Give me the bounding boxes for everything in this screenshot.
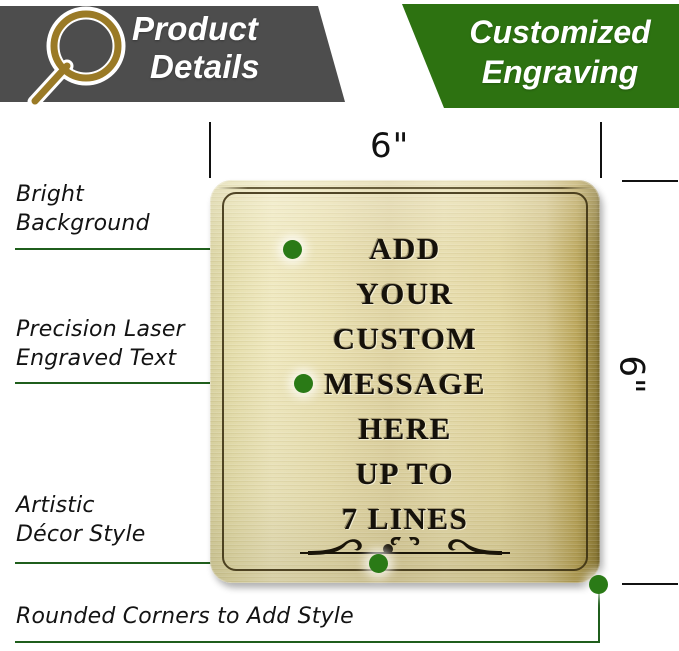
engraved-line: UP TO [210,451,600,496]
callout-label-artistic-decor-style: Artistic Décor Style [16,491,146,549]
engraved-text-block: ADD YOUR CUSTOM MESSAGE HERE UP TO 7 LIN… [210,226,600,541]
customized-engraving-banner-text: Customized Engraving [444,12,676,92]
decorative-flourish-icon [300,531,510,559]
dimension-tick-right-top [622,180,678,182]
plaque-surface: ADD YOUR CUSTOM MESSAGE HERE UP TO 7 LIN… [210,180,600,583]
height-dimension-label: 6" [612,355,652,394]
callout-leader-rounded-corners-vertical [598,592,600,643]
product-details-line1: Product [132,10,258,47]
engraved-line: YOUR [210,271,600,316]
customized-engraving-line2: Engraving [482,54,638,90]
dimension-tick-top-left [209,122,211,178]
engraved-line: MESSAGE [210,361,600,406]
infographic-canvas: Product Details Customized Engraving 6" … [0,0,679,651]
dimension-tick-right-bottom [622,583,678,585]
callout-label-rounded-corners: Rounded Corners to Add Style [16,602,354,631]
customized-engraving-line1: Customized [469,14,650,50]
dimension-tick-top-right [600,122,602,178]
engraved-line: 7 LINES [210,496,600,541]
engraved-line: HERE [210,406,600,451]
magnifying-glass-icon [14,0,134,118]
callout-leader-rounded-corners-horizontal [15,641,600,643]
engraved-line: ADD [210,226,600,271]
plaque-top-edge-line [218,187,592,189]
callout-dot-rounded-corners [589,575,608,594]
brushed-metal-texture [210,180,600,583]
callout-dot-artistic-decor-style [369,554,388,573]
callout-label-precision-laser-engraved-text: Precision Laser Engraved Text [16,315,185,373]
callout-dot-precision-laser-engraved-text [294,374,313,393]
engraved-plaque: ADD YOUR CUSTOM MESSAGE HERE UP TO 7 LIN… [210,180,600,583]
callout-dot-bright-background [283,240,302,259]
product-details-line2: Details [132,48,332,86]
plaque-inner-border [222,192,588,571]
plaque-sheen [210,180,600,583]
product-details-banner-text: Product Details [132,10,332,86]
callout-label-bright-background: Bright Background [16,180,150,238]
engraved-line: CUSTOM [210,316,600,361]
width-dimension-label: 6" [370,126,409,166]
